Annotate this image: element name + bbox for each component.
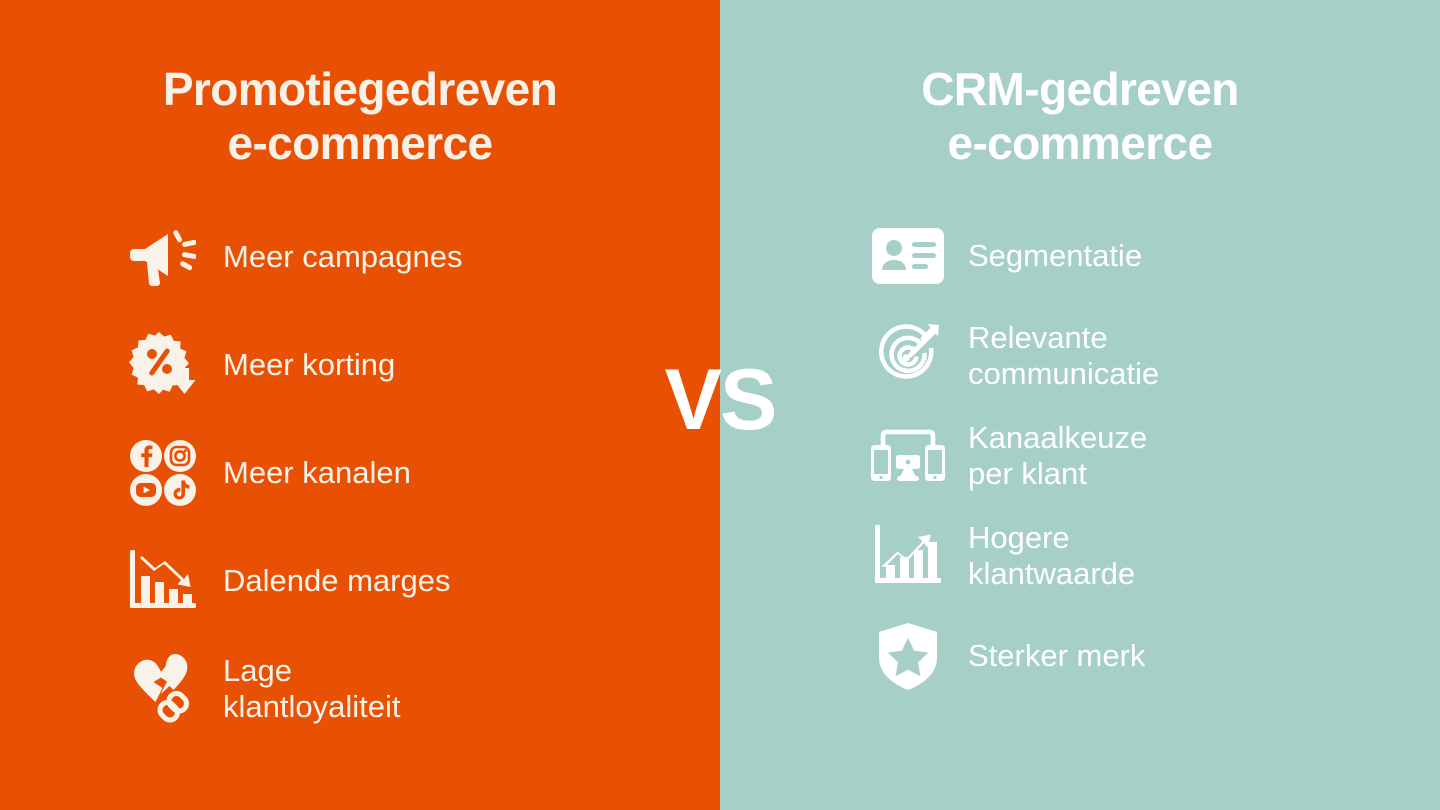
shield-star-icon xyxy=(870,618,946,694)
comparison-slide: Promotiegedreven e-commerce xyxy=(0,0,1440,810)
right-panel-title: CRM-gedreven e-commerce xyxy=(921,62,1238,171)
list-item-label: Kanaalkeuze per klant xyxy=(968,420,1147,491)
target-arrow-icon xyxy=(870,318,946,394)
right-panel-crm-driven: CRM-gedreven e-commerce xyxy=(720,0,1440,810)
list-item-label: Meer kanalen xyxy=(223,455,411,490)
list-item: Hogere klantwaarde xyxy=(870,515,1290,597)
left-title-line-1: Promotiegedreven xyxy=(163,62,557,116)
right-title-line-2: e-commerce xyxy=(921,116,1238,170)
left-item-list: Meer campagnes Meer korting xyxy=(125,217,595,729)
right-title-line-1: CRM-gedreven xyxy=(921,62,1238,116)
rising-bar-chart-icon xyxy=(870,518,946,594)
list-item-label: Hogere klantwaarde xyxy=(968,520,1135,591)
list-item: Meer campagnes xyxy=(125,217,595,297)
social-channels-icon xyxy=(125,435,201,511)
list-item-label: Sterker merk xyxy=(968,638,1145,673)
list-item: Dalende marges xyxy=(125,541,595,621)
list-item: Segmentatie xyxy=(870,215,1290,297)
id-card-icon xyxy=(870,218,946,294)
list-item-label: Segmentatie xyxy=(968,238,1142,273)
versus-divider-label: VS xyxy=(665,357,776,443)
list-item-label: Lage klantloyaliteit xyxy=(223,653,400,724)
megaphone-icon xyxy=(125,219,201,295)
list-item-label: Meer campagnes xyxy=(223,239,463,274)
list-item: Sterker merk xyxy=(870,615,1290,697)
list-item-label: Dalende marges xyxy=(223,563,450,598)
list-item: Kanaalkeuze per klant xyxy=(870,415,1290,497)
multi-device-icon xyxy=(870,418,946,494)
left-panel-title: Promotiegedreven e-commerce xyxy=(163,62,557,171)
declining-bar-chart-icon xyxy=(125,543,201,619)
list-item: Meer korting xyxy=(125,325,595,405)
list-item: Relevante communicatie xyxy=(870,315,1290,397)
left-title-line-2: e-commerce xyxy=(163,116,557,170)
list-item-label: Meer korting xyxy=(223,347,395,382)
broken-heart-chain-icon xyxy=(125,651,201,727)
right-item-list: Segmentatie xyxy=(870,215,1290,697)
list-item-label: Relevante communicatie xyxy=(968,320,1159,391)
left-panel-promotion-driven: Promotiegedreven e-commerce xyxy=(0,0,720,810)
social-channels-item: Meer kanalen xyxy=(125,433,595,513)
list-item: Lage klantloyaliteit xyxy=(125,649,595,729)
discount-badge-down-arrow-icon xyxy=(125,327,201,403)
